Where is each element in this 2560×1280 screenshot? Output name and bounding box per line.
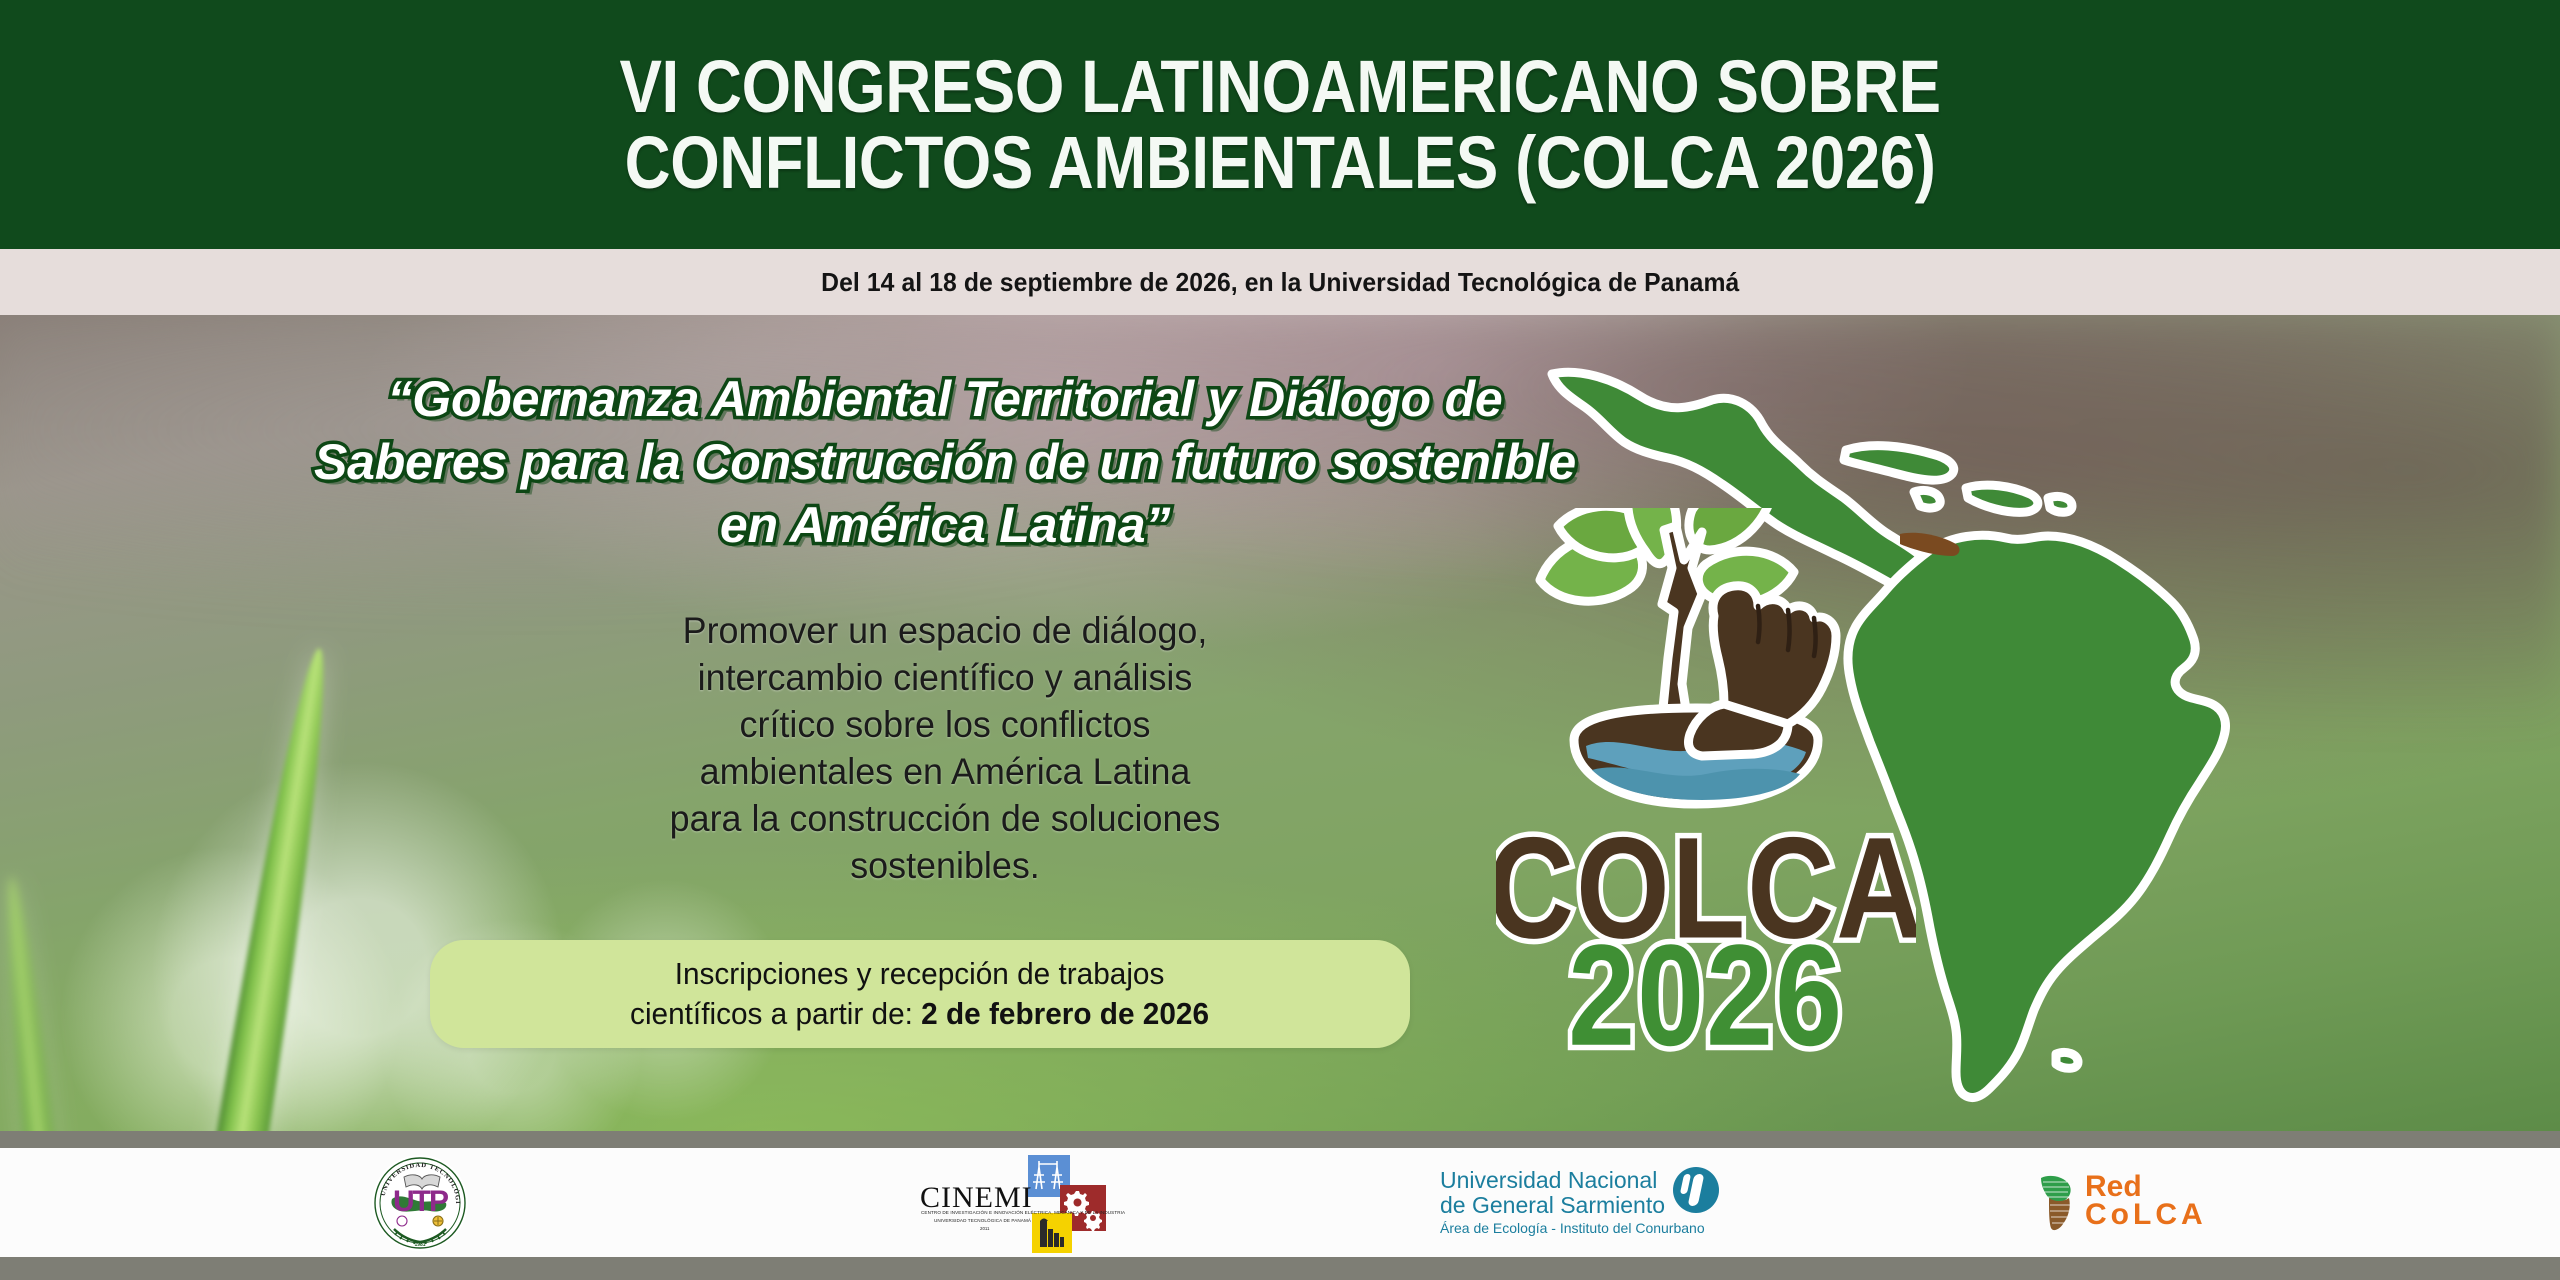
date-band: Del 14 al 18 de septiembre de 2026, en l… — [0, 249, 2560, 316]
svg-text:1981: 1981 — [414, 1242, 425, 1248]
footer-logo-ungs[interactable]: Universidad Nacional de General Sarmient… — [1430, 1148, 1750, 1257]
callout-line-2-prefix: científicos a partir de: — [631, 996, 922, 1031]
theme-quote: “Gobernanza Ambiental Territorial y Diál… — [300, 368, 1590, 557]
ungs-line-1: Universidad Nacional — [1440, 1167, 1657, 1194]
cinemi-subtitle-1: CENTRO DE INVESTIGACIÓN E INNOVACIÓN ELÉ… — [921, 1210, 1125, 1215]
colca-logo: COLCA 2026 — [1496, 508, 1916, 1088]
title-band: VI CONGRESO LATINOAMERICANO SOBRE CONFLI… — [0, 0, 2560, 249]
footer-top-divider — [0, 1131, 2560, 1148]
ungs-circle-mark-icon — [1673, 1167, 1719, 1213]
footer-logo-cinemi[interactable]: CINEMI CENTRO DE INVESTIGACIÓN E INNOVAC… — [880, 1148, 1140, 1257]
footer-logo-utp[interactable]: UNIVERSIDAD TECNOLÓGICA DE PANAMÁ UTP — [300, 1148, 540, 1257]
callout-deadline-date: 2 de febrero de 2026 — [922, 996, 1210, 1031]
ungs-subtitle: Área de Ecología - Instituto del Conurba… — [1440, 1220, 1705, 1236]
svg-text:UTP: UTP — [393, 1185, 448, 1218]
red-colca-map-icon — [2035, 1172, 2081, 1234]
cinemi-subtitle-2: UNIVERSIDAD TECNOLÓGICA DE PANAMÁ — [934, 1218, 1031, 1223]
ungs-logo-icon: Universidad Nacional de General Sarmient… — [1440, 1165, 1740, 1241]
cinemi-logo-icon: CINEMI CENTRO DE INVESTIGACIÓN E INNOVAC… — [920, 1159, 1100, 1247]
poster-root: VI CONGRESO LATINOAMERICANO SOBRE CONFLI… — [0, 0, 2560, 1280]
footer-bottom-divider — [0, 1257, 2560, 1280]
page-title: VI CONGRESO LATINOAMERICANO SOBRE CONFLI… — [619, 49, 1940, 200]
event-dates-location: Del 14 al 18 de septiembre de 2026, en l… — [821, 267, 1739, 298]
footer-logos-bar: UNIVERSIDAD TECNOLÓGICA DE PANAMÁ UTP — [0, 1148, 2560, 1257]
objective-paragraph: Promover un espacio de diálogo, intercam… — [552, 608, 1338, 890]
utp-seal-icon: UNIVERSIDAD TECNOLÓGICA DE PANAMÁ UTP — [372, 1155, 468, 1251]
red-colca-logo-icon: Red CoLCA — [2035, 1168, 2235, 1238]
colca-year: 2026 — [1568, 916, 1844, 1077]
callout-line-1: Inscripciones y recepción de trabajos — [675, 956, 1165, 991]
cinemi-yellow-square-icon — [1032, 1213, 1072, 1253]
footer-logo-red-colca[interactable]: Red CoLCA — [2010, 1148, 2260, 1257]
registration-callout: Inscripciones y recepción de trabajos ci… — [430, 940, 1410, 1048]
red-colca-word-colca: CoLCA — [2085, 1198, 2207, 1232]
registration-callout-text: Inscripciones y recepción de trabajos ci… — [631, 954, 1210, 1035]
cinemi-subtitle-3: 2011 — [980, 1226, 989, 1231]
ungs-line-2: de General Sarmiento — [1440, 1192, 1665, 1219]
